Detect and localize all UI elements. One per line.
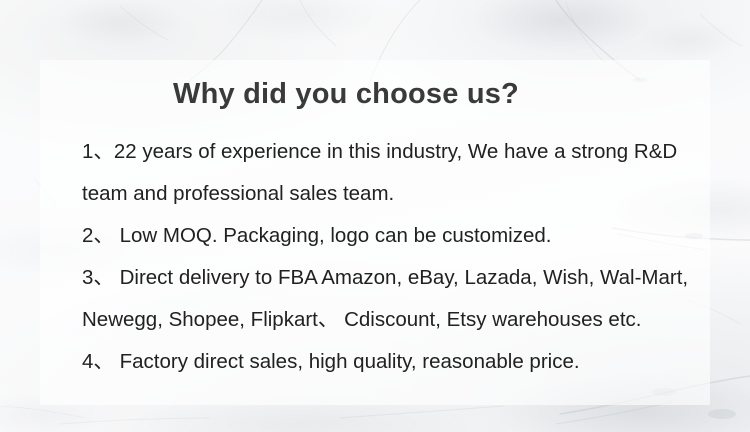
banner-content: Why did you choose us? 1、22 years of exp… (0, 0, 750, 432)
list-item: 3、 Direct delivery to FBA Amazon, eBay, … (82, 257, 682, 299)
list-item: team and professional sales team. (82, 173, 682, 215)
page-title: Why did you choose us? (40, 79, 652, 111)
list-item: 4、 Factory direct sales, high quality, r… (82, 341, 682, 383)
list-item: Newegg, Shopee, Flipkart、 Cdiscount, Ets… (82, 299, 682, 341)
marble-banner: Why did you choose us? 1、22 years of exp… (0, 0, 750, 432)
benefit-list: 1、22 years of experience in this industr… (82, 131, 682, 383)
list-item: 2、 Low MOQ. Packaging, logo can be custo… (82, 215, 682, 257)
list-item: 1、22 years of experience in this industr… (82, 131, 682, 173)
